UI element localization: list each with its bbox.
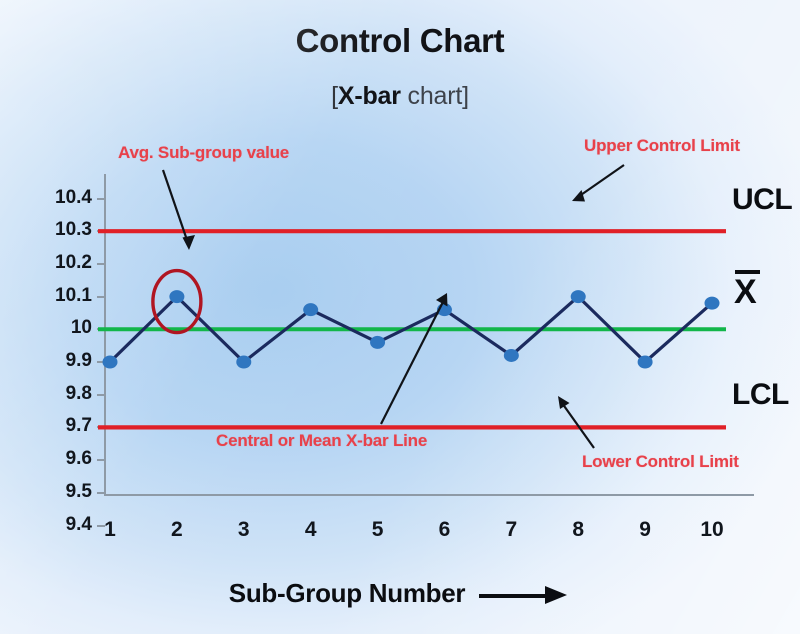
annotation-upper-control-limit: Upper Control Limit [584,136,740,156]
data-point-marker[interactable] [169,290,184,303]
arrow-ucl-line [578,165,624,197]
chart-canvas: Control Chart [X-bar chart] 10.410.310.2… [0,0,800,634]
data-point-marker[interactable] [370,336,385,349]
lcl-label: LCL [732,378,789,412]
xbar-label: X [734,270,760,309]
arrow-central-line [381,300,444,424]
xbar-letter: X [734,273,756,311]
right-arrow-icon [479,592,571,598]
data-point-marker[interactable] [103,356,118,369]
data-point-marker[interactable] [638,356,653,369]
data-point-marker[interactable] [705,297,720,310]
reference-lines-group [98,231,726,427]
arrow-ucl-head [572,190,585,202]
annotation-avg-subgroup-value: Avg. Sub-group value [118,143,289,163]
ucl-label: UCL [732,183,792,217]
x-axis-title-text: Sub-Group Number [229,578,465,608]
annotation-arrows-group [163,165,624,448]
annotation-lower-control-limit: Lower Control Limit [582,452,739,472]
data-point-marker[interactable] [571,290,586,303]
annotation-central-mean-line: Central or Mean X-bar Line [216,431,427,451]
arrow-avg-subgroup-head [183,235,196,250]
x-axis-title: Sub-Group Number [0,578,800,609]
data-point-marker[interactable] [303,303,318,316]
data-point-marker[interactable] [236,356,251,369]
plot-area [0,0,800,634]
data-point-marker[interactable] [504,349,519,362]
